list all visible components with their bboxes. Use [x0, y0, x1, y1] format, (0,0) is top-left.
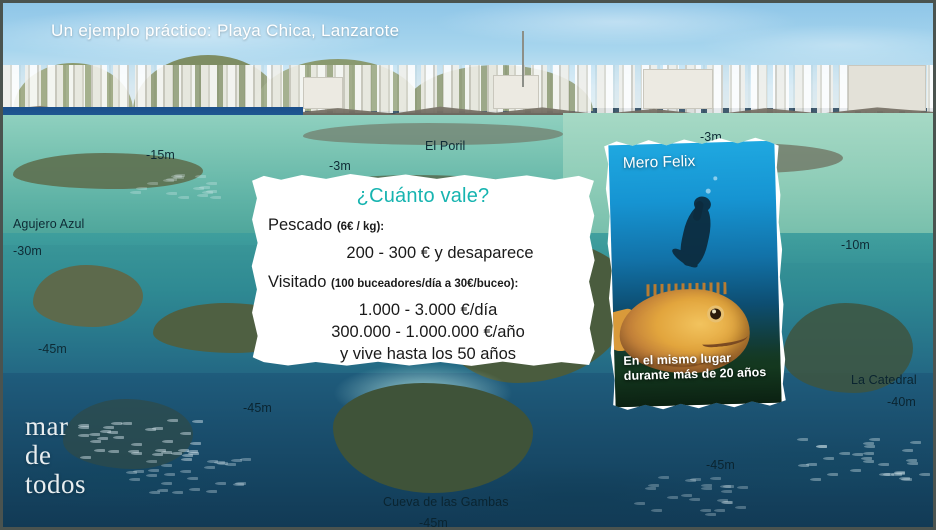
fish	[206, 182, 217, 185]
card-row-label-pescado: Pescado (6€ / kg):	[268, 216, 580, 235]
fish	[146, 474, 157, 477]
fish	[235, 482, 246, 485]
underwater-photo: Mero Felix En el mismo lugar durante más…	[608, 141, 781, 408]
map-label: -3m	[329, 159, 351, 173]
info-card: ¿Cuánto vale? Pescado (6€ / kg): 200 - 3…	[250, 173, 596, 367]
fish	[173, 176, 184, 179]
fish	[645, 487, 656, 490]
map-label: -40m	[887, 395, 916, 409]
label-note: (6€ / kg):	[337, 221, 384, 233]
map-label: -30m	[13, 244, 42, 258]
fish	[113, 436, 124, 439]
bubble	[713, 176, 717, 180]
card-row-value-vida: y vive hasta los 50 años	[276, 345, 580, 364]
fish	[146, 460, 157, 463]
reef-rock	[33, 265, 143, 327]
fish	[161, 482, 172, 485]
label-note: (100 buceadores/día a 30€/buceo):	[331, 278, 518, 290]
fish	[215, 482, 226, 485]
fish	[910, 441, 921, 444]
bubble	[706, 189, 711, 194]
fish	[705, 513, 716, 516]
fish	[187, 477, 198, 480]
fish	[90, 440, 101, 443]
fish	[852, 453, 863, 456]
fish	[648, 484, 659, 487]
fish	[94, 449, 105, 452]
fish	[136, 187, 147, 190]
fish	[171, 452, 182, 455]
fish	[180, 470, 191, 473]
fish	[188, 452, 199, 455]
fish	[145, 428, 156, 431]
photo-caption: En el mismo lugar durante más de 20 años	[623, 350, 775, 385]
fish	[129, 478, 140, 481]
fish	[878, 463, 889, 466]
fish	[163, 179, 174, 182]
fish	[823, 457, 834, 460]
map-label: La Catedral	[851, 373, 917, 387]
fish	[735, 506, 746, 509]
fish	[850, 469, 861, 472]
card-row-label-visitado: Visitado (100 buceadores/día a 30€/buceo…	[268, 273, 580, 292]
card-row-value-dia: 1.000 - 3.000 €/día	[276, 301, 580, 320]
diver-silhouette	[677, 203, 716, 269]
map-label: El Poril	[425, 139, 465, 153]
map-label: -45m	[38, 342, 67, 356]
map-label: -10m	[841, 238, 870, 252]
fish	[178, 449, 189, 452]
fish	[816, 445, 827, 448]
fish	[178, 196, 189, 199]
fish	[121, 422, 132, 425]
fish	[701, 484, 712, 487]
logo-line-2: de	[25, 441, 86, 470]
card-row-value-anio: 300.000 - 1.000.000 €/año	[276, 323, 580, 342]
fish	[723, 485, 734, 488]
map-label: -45m	[706, 458, 735, 472]
fish-eye	[710, 308, 721, 319]
fish	[197, 194, 208, 197]
fish	[806, 463, 817, 466]
fish	[907, 462, 918, 465]
fish	[891, 473, 902, 476]
logo: mar de todos	[25, 412, 86, 499]
fish	[634, 502, 645, 505]
fish	[869, 438, 880, 441]
fish	[89, 433, 100, 436]
slide-canvas: Un ejemplo práctico: Playa Chica, Lanzar…	[0, 0, 936, 530]
map-label: Agujero Azul	[13, 217, 84, 231]
label-text: Pescado	[268, 216, 332, 234]
logo-line-3: todos	[25, 470, 86, 499]
fish	[172, 491, 183, 494]
fish	[217, 462, 228, 465]
map-label: -15m	[146, 148, 175, 162]
fish	[161, 464, 172, 467]
fish	[722, 501, 733, 504]
fish	[195, 175, 206, 178]
fish	[192, 420, 203, 423]
fish	[658, 476, 669, 479]
fish	[180, 432, 191, 435]
fish	[190, 442, 201, 445]
label-text: Visitado	[268, 273, 326, 291]
fish	[189, 488, 200, 491]
logo-line-1: mar	[25, 412, 86, 441]
mouth	[701, 330, 748, 348]
fish	[161, 451, 172, 454]
fish	[899, 477, 910, 480]
fish	[863, 452, 874, 455]
map-label: -45m	[419, 516, 448, 530]
card-heading: ¿Cuánto vale?	[266, 185, 580, 208]
fish	[199, 186, 210, 189]
map-label: Cueva de las Gambas	[383, 495, 509, 509]
fish	[130, 191, 141, 194]
fish	[700, 509, 711, 512]
card-row-value-pescado: 200 - 300 € y desaparece	[300, 244, 580, 263]
fish	[827, 473, 838, 476]
fish	[902, 449, 913, 452]
photo-title: Mero Felix	[623, 153, 696, 173]
fish	[667, 496, 678, 499]
fish	[863, 460, 874, 463]
fish	[721, 490, 732, 493]
fish	[690, 478, 701, 481]
fish	[131, 452, 142, 455]
fish	[701, 487, 712, 490]
fish	[181, 458, 192, 461]
map-label: -45m	[243, 401, 272, 415]
fish	[166, 192, 177, 195]
fish	[863, 442, 874, 445]
page-title: Un ejemplo práctico: Playa Chica, Lanzar…	[51, 21, 399, 41]
photo-card: Mero Felix En el mismo lugar durante más…	[602, 135, 788, 414]
